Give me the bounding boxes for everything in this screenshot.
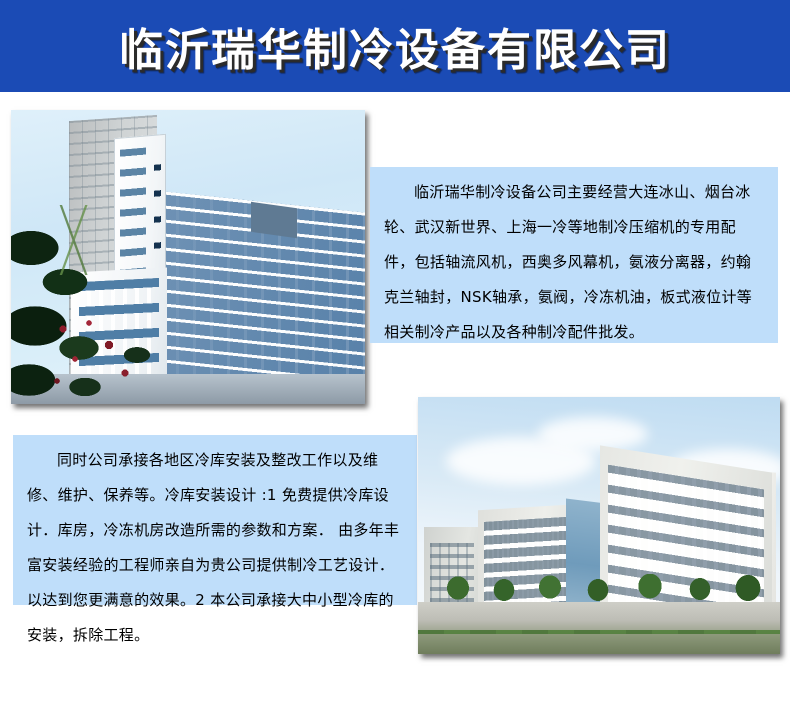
foreground-blossoms <box>45 315 165 404</box>
complex-roadway <box>418 634 780 654</box>
tower-roof-cap <box>251 202 297 238</box>
photo-building-tower <box>11 110 365 404</box>
services-text-body: 同时公司承接各地区冷库安装及整改工作以及维修、维护、保养等。冷库安装设计 :1 … <box>27 443 403 653</box>
photo-office-complex <box>418 397 780 654</box>
about-text-panel: 临沂瑞华制冷设备公司主要经营大连冰山、烟台冰轮、武汉新世界、上海一冷等地制冷压缩… <box>370 167 778 343</box>
about-text-body: 临沂瑞华制冷设备公司主要经营大连冰山、烟台冰轮、武汉新世界、上海一冷等地制冷压缩… <box>384 175 764 350</box>
foreground-twig <box>27 205 122 275</box>
page-title: 临沂瑞华制冷设备有限公司 <box>0 0 790 92</box>
cloud-shape <box>538 417 648 451</box>
services-text-panel: 同时公司承接各地区冷库安装及整改工作以及维修、维护、保养等。冷库安装设计 :1 … <box>13 435 417 605</box>
complex-street-trees <box>418 574 780 624</box>
header-banner: 临沂瑞华制冷设备有限公司 <box>0 0 790 92</box>
